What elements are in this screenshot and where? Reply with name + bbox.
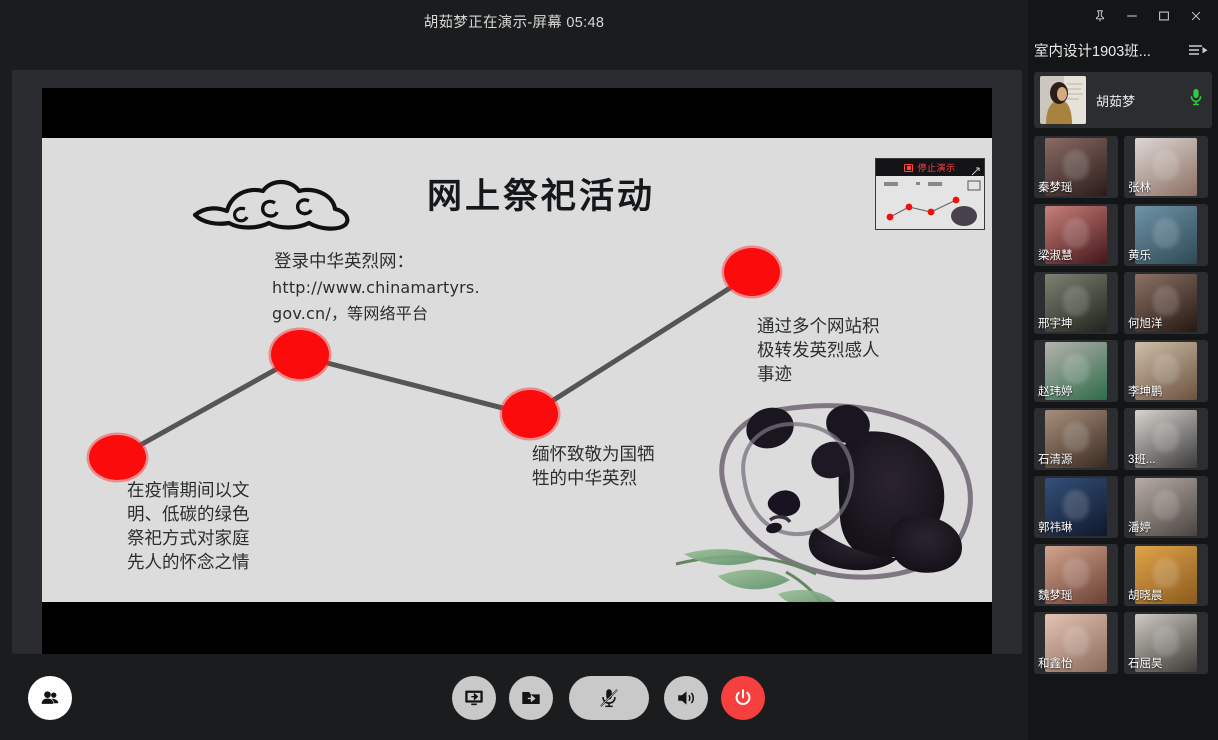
close-icon[interactable]	[1188, 8, 1204, 24]
participant-tile[interactable]: 赵玮婷	[1034, 340, 1118, 402]
participant-tile[interactable]: 秦梦瑶	[1034, 136, 1118, 198]
stop-presenting-icon	[904, 164, 913, 172]
speaker-button[interactable]	[664, 676, 708, 720]
participant-tile[interactable]: 黄乐	[1124, 204, 1208, 266]
participant-tile[interactable]: 胡晓晨	[1124, 544, 1208, 606]
presenting-status-text: 胡茹梦正在演示-屏幕 05:48	[424, 11, 604, 32]
callout-text-3: 缅怀致敬为国牺 牲的中华英烈	[532, 443, 655, 491]
callout-text-2-url-line2: gov.cn/，等网络平台	[272, 303, 428, 325]
stop-presenting-label: 停止演示	[917, 161, 955, 174]
meeting-room-title: 室内设计1903班...	[1034, 40, 1184, 61]
stop-presenting-floating-panel[interactable]: 停止演示	[875, 158, 985, 230]
participant-tile[interactable]: 何旭洋	[1124, 272, 1208, 334]
node-marker-3	[502, 390, 558, 438]
active-speaker-thumbnail	[1040, 76, 1086, 124]
stop-presenting-bar[interactable]: 停止演示	[876, 159, 984, 176]
participant-name: 梁淑慧	[1038, 247, 1073, 263]
microphone-active-icon	[1190, 88, 1202, 106]
participant-name: 李坤鹏	[1128, 383, 1163, 399]
pin-icon[interactable]	[1092, 8, 1108, 24]
presentation-slide: 网上祭祀活动 在疫情期间以文 明、低碳的绿色 祭祀方式对家庭 先人的怀念之情 登…	[42, 138, 992, 602]
share-file-icon	[520, 687, 542, 709]
share-screen-icon	[463, 687, 485, 709]
participant-name: 和鑫怡	[1038, 655, 1073, 671]
panda-ink-illustration	[666, 368, 992, 602]
video-letterbox: 网上祭祀活动 在疫情期间以文 明、低碳的绿色 祭祀方式对家庭 先人的怀念之情 登…	[42, 88, 992, 654]
participant-tile[interactable]: 张林	[1124, 136, 1208, 198]
participants-icon	[40, 688, 60, 708]
node-marker-2	[271, 330, 329, 379]
shared-screen-stage[interactable]: 网上祭祀活动 在疫情期间以文 明、低碳的绿色 祭祀方式对家庭 先人的怀念之情 登…	[12, 70, 1022, 654]
participant-tile[interactable]: 李坤鹏	[1124, 340, 1208, 402]
participant-name: 黄乐	[1128, 247, 1151, 263]
sidebar-header[interactable]: 室内设计1903班...	[1028, 32, 1218, 68]
participant-tile[interactable]: 郭祎琳	[1034, 476, 1118, 538]
leave-call-button[interactable]	[721, 676, 765, 720]
active-speaker-name: 胡茹梦	[1096, 91, 1135, 110]
participant-name: 石屈昊	[1128, 655, 1163, 671]
participant-tile[interactable]: 石清源	[1034, 408, 1118, 470]
participant-tile[interactable]: 潘婷	[1124, 476, 1208, 538]
callout-text-1: 在疫情期间以文 明、低碳的绿色 祭祀方式对家庭 先人的怀念之情	[127, 479, 250, 576]
participants-sidebar: 室内设计1903班... 胡茹梦	[1028, 0, 1218, 740]
participant-name: 张林	[1128, 179, 1151, 195]
participant-tile[interactable]: 梁淑慧	[1034, 204, 1118, 266]
participant-tile[interactable]: 3班...	[1124, 408, 1208, 470]
participant-name: 赵玮婷	[1038, 383, 1073, 399]
participant-name: 石清源	[1038, 451, 1073, 467]
callout-text-2-heading: 登录中华英烈网：	[274, 250, 414, 274]
minimize-icon[interactable]	[1124, 8, 1140, 24]
participant-tile[interactable]: 和鑫怡	[1034, 612, 1118, 674]
active-speaker-card[interactable]: 胡茹梦	[1034, 72, 1212, 128]
share-screen-button[interactable]	[452, 676, 496, 720]
expand-icon[interactable]	[971, 163, 980, 172]
node-marker-4	[724, 248, 780, 296]
maximize-icon[interactable]	[1156, 8, 1172, 24]
microphone-button[interactable]	[569, 676, 649, 720]
callout-text-2-url-line1: http://www.chinamartyrs.	[272, 277, 480, 299]
participants-button[interactable]	[28, 676, 72, 720]
window-controls	[1028, 0, 1218, 32]
microphone-muted-icon	[598, 687, 620, 709]
participant-grid: 秦梦瑶张林梁淑慧黄乐邢宇坤何旭洋赵玮婷李坤鹏石清源3班...郭祎琳潘婷魏梦瑶胡晓…	[1028, 136, 1218, 674]
share-preview-thumbnail	[876, 176, 984, 230]
participant-name: 秦梦瑶	[1038, 179, 1073, 195]
participant-tile[interactable]: 邢宇坤	[1034, 272, 1118, 334]
participant-name: 胡晓晨	[1128, 587, 1163, 603]
node-marker-1	[89, 435, 146, 480]
participant-tile[interactable]: 石屈昊	[1124, 612, 1208, 674]
share-file-button[interactable]	[509, 676, 553, 720]
participant-name: 潘婷	[1128, 519, 1151, 535]
participant-name: 3班...	[1128, 451, 1155, 467]
participant-name: 郭祎琳	[1038, 519, 1073, 535]
leave-call-icon	[732, 687, 754, 709]
window-title-bar: 胡茹梦正在演示-屏幕 05:48	[0, 0, 1028, 42]
participant-tile[interactable]: 魏梦瑶	[1034, 544, 1118, 606]
speaker-icon	[675, 687, 697, 709]
participant-name: 魏梦瑶	[1038, 587, 1073, 603]
participant-name: 邢宇坤	[1038, 315, 1073, 331]
list-view-icon[interactable]	[1188, 43, 1210, 57]
participant-name: 何旭洋	[1128, 315, 1163, 331]
